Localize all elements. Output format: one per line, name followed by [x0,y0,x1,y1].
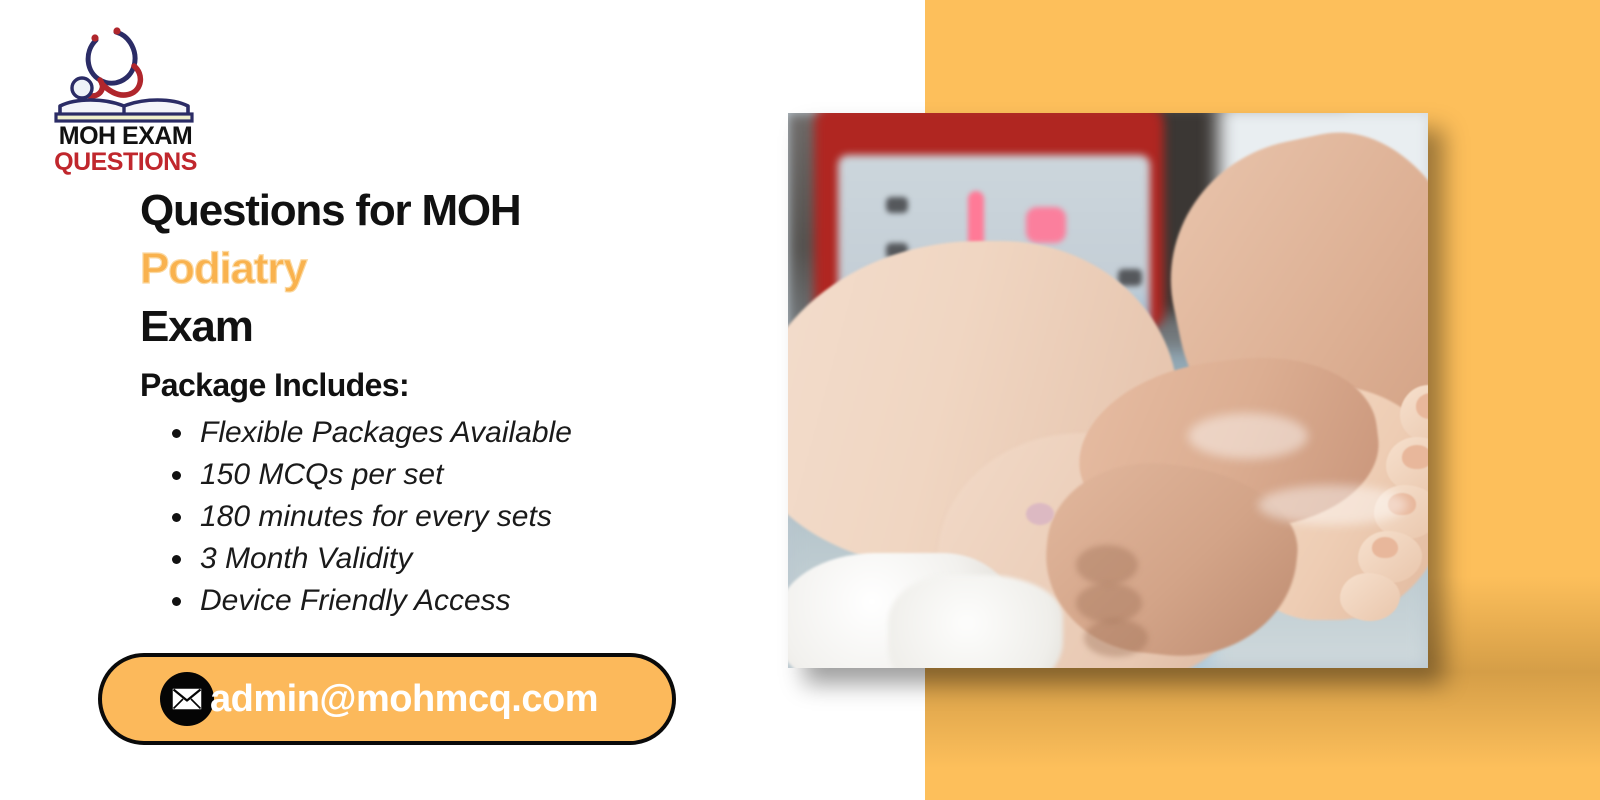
envelope-icon-glyph [172,688,202,710]
photo-content [788,113,1428,668]
stethoscope-book-icon [38,14,213,124]
list-item-label: Device Friendly Access [200,584,511,617]
list-item: Device Friendly Access [200,580,572,622]
list-item: 150 MCQs per set [200,454,572,496]
photo-towel-fold [888,575,1063,668]
headline-line-3: Exam [140,298,760,356]
photo-device-indicator-pink-square [1026,207,1066,243]
photo-toenail [1402,445,1428,469]
list-item: 180 minutes for every sets [200,496,572,538]
photo-patient-toenail-polish [1026,503,1054,525]
logo-text-line2: QUESTIONS [38,150,213,175]
contact-email-button[interactable]: admin@mohmcq.com [98,653,676,745]
photo-knuckle [1076,545,1138,585]
photo-knuckle [1076,583,1142,623]
list-item-label: 180 minutes for every sets [200,500,552,533]
envelope-icon [160,672,214,726]
photo-toenail [1372,537,1398,558]
list-item-label: Flexible Packages Available [200,416,572,449]
brand-logo: MOH EXAM QUESTIONS [38,14,213,172]
contact-email-label: admin@mohmcq.com [210,678,598,721]
bullet-icon [172,513,181,522]
bullet-icon [172,555,181,564]
bullet-icon [172,429,181,438]
photo-skin-highlight [1188,413,1308,459]
headline-block: Questions for MOH Podiatry Exam [140,182,760,356]
headline-line-1: Questions for MOH [140,182,760,240]
podiatry-photo [788,113,1428,668]
photo-toe [1340,573,1400,621]
list-item: Flexible Packages Available [200,412,572,454]
package-includes-heading: Package Includes: [140,367,409,404]
list-item-label: 150 MCQs per set [200,458,443,491]
poster-canvas: MOH EXAM QUESTIONS Questions for MOH Pod… [0,0,1600,800]
bullet-icon [172,471,181,480]
photo-skin-highlight [1258,485,1408,525]
photo-knuckle [1084,619,1148,657]
package-feature-list: Flexible Packages Available 150 MCQs per… [158,412,572,622]
photo-device-button [886,197,908,213]
list-item-label: 3 Month Validity [200,542,412,575]
bullet-icon [172,597,181,606]
logo-text-line1: MOH EXAM [38,124,213,149]
list-item: 3 Month Validity [200,538,572,580]
headline-line-2-specialty: Podiatry [140,240,760,298]
